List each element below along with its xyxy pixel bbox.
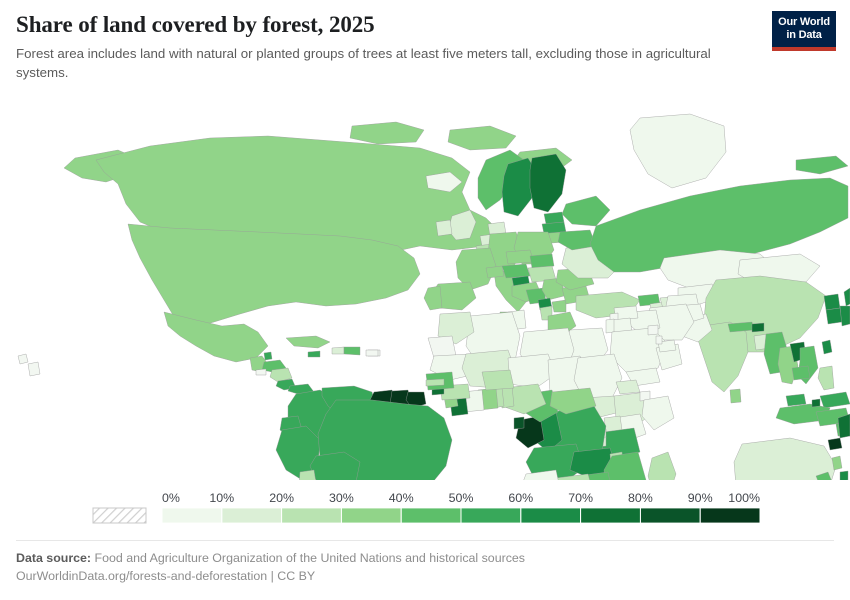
legend-tick-label-10: 10%: [209, 491, 234, 505]
country-jam[interactable]: Jamaica: 55%: [308, 351, 320, 357]
country-qat[interactable]: QAT: [656, 336, 662, 344]
map-svg[interactable]: Greenland: 0.2%Alaska: 35%Canada: 38.7%C…: [0, 100, 850, 480]
country-uga[interactable]: Uganda: 11.7%: [604, 416, 622, 432]
country-grl[interactable]: Greenland: 0.2%: [630, 114, 726, 188]
chart-header: Share of land covered by forest, 2025 Fo…: [16, 12, 834, 83]
chart-subtitle: Forest area includes land with natural o…: [16, 45, 718, 83]
owid-logo-line1: Our World: [776, 16, 832, 29]
footer-attribution-line: OurWorldinData.org/forests-and-deforesta…: [16, 567, 834, 586]
country-can-2[interactable]: Canada: 38.7%: [448, 126, 516, 150]
country-brn[interactable]: Brunei: 72.1%: [812, 399, 820, 407]
legend-tick-label-50: 50%: [449, 491, 474, 505]
country-slb[interactable]: Solomon Islands: 90%: [828, 438, 842, 450]
legend-tick-label-100: 100%: [728, 491, 760, 505]
country-aut[interactable]: Austria: 47.3%: [502, 264, 530, 278]
country-rus-2[interactable]: Russia: 49.8%: [796, 156, 848, 174]
country-btn[interactable]: Bhutan: 71.4%: [752, 323, 764, 332]
country-isr[interactable]: Israel: 6.5%: [606, 319, 614, 333]
country-vut[interactable]: Vanuatu: 36%: [832, 456, 842, 470]
country-che[interactable]: Switzerland: 31.9%: [486, 266, 504, 278]
owid-logo[interactable]: Our World in Data: [772, 11, 836, 51]
legend-tick-label-0: 0%: [162, 491, 180, 505]
legend-bin-90-100[interactable]: [700, 508, 760, 523]
country-khm[interactable]: Cambodia: 45.7%: [792, 366, 810, 380]
legend-svg[interactable]: 0%10%20%30%40%50%60%70%80%90%100%: [0, 488, 850, 538]
country-bfa[interactable]: Burkina Faso: 23.5%: [482, 370, 514, 390]
country-eri[interactable]: Eritrea: 10%: [616, 380, 640, 394]
country-aus[interactable]: Australia: 17.4%: [734, 438, 836, 480]
chart-footer: Data source: Food and Agriculture Organi…: [16, 540, 834, 586]
country-prk[interactable]: North Korea: 60%: [824, 294, 840, 310]
legend-no-data-swatch[interactable]: [93, 508, 146, 523]
country-fji[interactable]: Fiji: 62%: [840, 471, 848, 480]
legend-tick-label-20: 20%: [269, 491, 294, 505]
country-rus-1[interactable]: Russia: 49.8%: [562, 196, 610, 226]
legend-tick-label-60: 60%: [508, 491, 533, 505]
country-cub[interactable]: Cuba: 31%: [286, 336, 330, 348]
country-prt[interactable]: Portugal: 36.2%: [424, 286, 442, 310]
page-title: Share of land covered by forest, 2025: [16, 12, 716, 38]
legend-tick-label-30: 30%: [329, 491, 354, 505]
footer-attribution-link[interactable]: OurWorldinData.org/forests-and-deforesta…: [16, 569, 315, 583]
legend-bin-0-10[interactable]: [162, 508, 222, 523]
country-mys[interactable]: Malaysia: 58.2%: [786, 394, 806, 406]
country-jpn-1[interactable]: Japan: 68.4%: [840, 306, 850, 326]
country-hti[interactable]: Haiti: 12%: [332, 347, 344, 354]
country-npl[interactable]: Nepal: 41.6%: [728, 322, 754, 332]
country-dom[interactable]: Dominican Republic: 44%: [344, 347, 360, 355]
legend-tick-label-80: 80%: [628, 491, 653, 505]
legend-bin-50-60[interactable]: [461, 508, 521, 523]
country-som[interactable]: Somalia: 9.5%: [642, 396, 674, 430]
country-lka[interactable]: Sri Lanka: 34%: [730, 389, 741, 403]
legend-tick-label-70: 70%: [568, 491, 593, 505]
footer-source-text: Food and Agriculture Organization of the…: [95, 551, 525, 565]
owid-logo-line2: in Data: [776, 29, 832, 42]
legend-tick-label-40: 40%: [389, 491, 414, 505]
legend-bin-70-80[interactable]: [581, 508, 641, 523]
country-kwt[interactable]: KWT: [648, 325, 658, 335]
country-jpn[interactable]: Japan: 68.4%: [844, 288, 850, 306]
country-cze[interactable]: Czechia: 34.7%: [506, 250, 534, 264]
country-irl[interactable]: Ireland: 11.4%: [436, 220, 452, 236]
country-png[interactable]: Papua New Guinea: 79.2%: [838, 414, 850, 438]
legend-bin-10-20[interactable]: [222, 508, 282, 523]
chart-root: Share of land covered by forest, 2025 Fo…: [0, 0, 850, 600]
country-mkd[interactable]: North Macedonia: 39.8%: [552, 300, 566, 312]
world-choropleth-map[interactable]: Greenland: 0.2%Alaska: 35%Canada: 38.7%C…: [0, 100, 850, 480]
country-blz[interactable]: Belize: 57%: [264, 352, 272, 360]
country-kor[interactable]: South Korea: 64.5%: [826, 308, 842, 324]
country-layer[interactable]: Greenland: 0.2%Alaska: 35%Canada: 38.7%C…: [18, 114, 850, 480]
footer-source-label: Data source:: [16, 551, 91, 565]
country-twn[interactable]: Taiwan: 60.7%: [822, 340, 832, 354]
legend-tick-label-90: 90%: [688, 491, 713, 505]
country-gnq[interactable]: Equatorial Guinea: 87%: [514, 417, 524, 429]
country-esh[interactable]: ESH: [428, 336, 456, 358]
country-mdg[interactable]: Madagascar: 21%: [648, 452, 676, 480]
country-phl[interactable]: Philippines: 24.1%: [818, 366, 834, 390]
legend-bin-80-90[interactable]: [640, 508, 700, 523]
country-hwi[interactable]: HWI: [18, 354, 28, 364]
footer-source-line: Data source: Food and Agriculture Organi…: [16, 549, 834, 568]
map-legend[interactable]: 0%10%20%30%40%50%60%70%80%90%100%: [0, 488, 850, 538]
legend-bin-30-40[interactable]: [341, 508, 401, 523]
country-slv[interactable]: SLV: [256, 369, 266, 375]
country-fin[interactable]: Finland: 73.7%: [530, 154, 566, 212]
country-can-1[interactable]: Canada: 38.7%: [350, 122, 424, 144]
country-svk[interactable]: Slovakia: 40.1%: [530, 254, 554, 268]
legend-bin-20-30[interactable]: [282, 508, 342, 523]
country-blr[interactable]: Belarus: 43.2%: [558, 230, 596, 250]
country-gmb[interactable]: Gambia: 24%: [426, 379, 444, 386]
country-hwi-1[interactable]: HWI: [28, 362, 40, 376]
legend-bin-60-70[interactable]: [521, 508, 581, 523]
legend-bin-40-50[interactable]: [401, 508, 461, 523]
country-mys-1[interactable]: Malaysia: 58.2%: [820, 392, 850, 408]
country-pri2[interactable]: PRI2: [366, 350, 378, 356]
